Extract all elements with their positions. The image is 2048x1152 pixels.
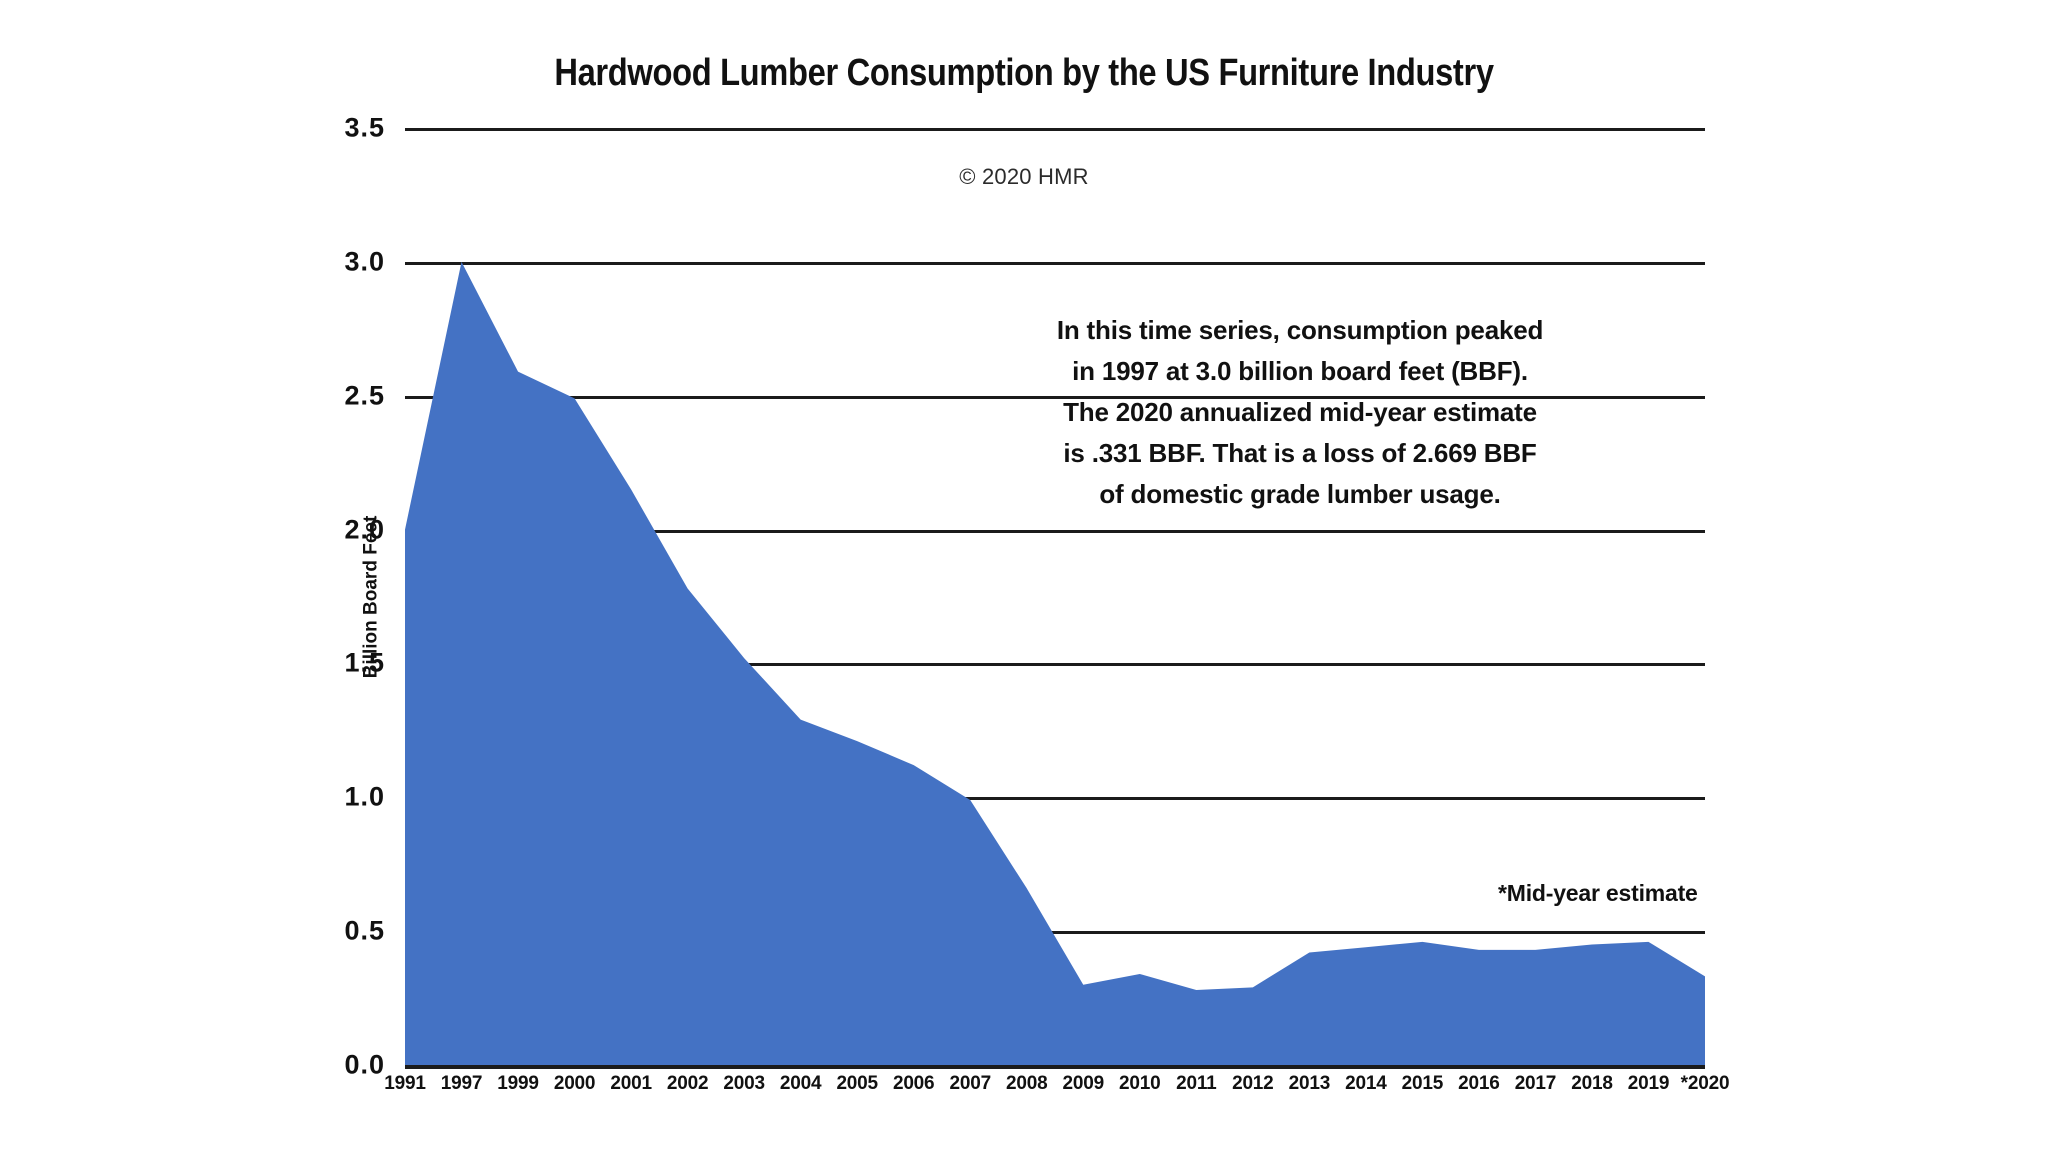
x-tick-2008: 2008 bbox=[1006, 1073, 1047, 1095]
x-tick-2006: 2006 bbox=[893, 1073, 934, 1095]
y-tick-2.0: 2.0 bbox=[275, 514, 385, 545]
y-tick-1.0: 1.0 bbox=[275, 782, 385, 813]
y-tick-0.0: 0.0 bbox=[275, 1050, 385, 1081]
x-axis-ticks: 1991199719992000200120022003200420052006… bbox=[405, 1073, 1705, 1107]
gridline-0.0 bbox=[405, 1065, 1705, 1069]
y-tick-2.5: 2.5 bbox=[275, 380, 385, 411]
x-tick-2018: 2018 bbox=[1571, 1073, 1612, 1095]
x-tick-1999: 1999 bbox=[497, 1073, 538, 1095]
x-tick-2015: 2015 bbox=[1402, 1073, 1443, 1095]
y-tick-3.5: 3.5 bbox=[275, 113, 385, 144]
x-tick-2011: 2011 bbox=[1176, 1073, 1216, 1095]
x-tick-est-2020: *2020 bbox=[1681, 1073, 1730, 1095]
x-tick-2007: 2007 bbox=[949, 1073, 990, 1095]
x-tick-1997: 1997 bbox=[441, 1073, 482, 1095]
y-tick-3.0: 3.0 bbox=[275, 246, 385, 277]
mid-year-estimate-footnote: *Mid-year estimate bbox=[1498, 880, 1698, 907]
x-tick-2019: 2019 bbox=[1628, 1073, 1669, 1095]
chart-title: Hardwood Lumber Consumption by the US Fu… bbox=[143, 52, 1904, 95]
peak-callout-annotation: In this time series, consumption peakedi… bbox=[1000, 310, 1600, 515]
x-tick-2010: 2010 bbox=[1119, 1073, 1160, 1095]
x-tick-2005: 2005 bbox=[836, 1073, 877, 1095]
x-tick-2013: 2013 bbox=[1289, 1073, 1330, 1095]
x-tick-1991: 1991 bbox=[384, 1073, 425, 1095]
x-tick-2017: 2017 bbox=[1515, 1073, 1556, 1095]
x-tick-2012: 2012 bbox=[1232, 1073, 1273, 1095]
peak-callout-line-5: of domestic grade lumber usage. bbox=[1000, 474, 1600, 515]
y-tick-0.5: 0.5 bbox=[275, 916, 385, 947]
peak-callout-line-2: in 1997 at 3.0 billion board feet (BBF). bbox=[1000, 351, 1600, 392]
area-series bbox=[405, 128, 1705, 1065]
peak-callout-line-1: In this time series, consumption peaked bbox=[1000, 310, 1600, 351]
peak-callout-line-3: The 2020 annualized mid-year estimate bbox=[1000, 392, 1600, 433]
x-tick-2004: 2004 bbox=[780, 1073, 821, 1095]
x-tick-2000: 2000 bbox=[554, 1073, 595, 1095]
x-tick-2016: 2016 bbox=[1458, 1073, 1499, 1095]
y-tick-1.5: 1.5 bbox=[275, 648, 385, 679]
x-tick-2009: 2009 bbox=[1063, 1073, 1104, 1095]
peak-callout-line-4: is .331 BBF. That is a loss of 2.669 BBF bbox=[1000, 433, 1600, 474]
chart-canvas: Hardwood Lumber Consumption by the US Fu… bbox=[0, 0, 2048, 1152]
x-tick-2002: 2002 bbox=[667, 1073, 708, 1095]
plot-area: Billion Board Feet bbox=[405, 128, 1705, 1065]
x-tick-2003: 2003 bbox=[723, 1073, 764, 1095]
x-tick-2001: 2001 bbox=[610, 1073, 651, 1095]
x-tick-2014: 2014 bbox=[1345, 1073, 1386, 1095]
